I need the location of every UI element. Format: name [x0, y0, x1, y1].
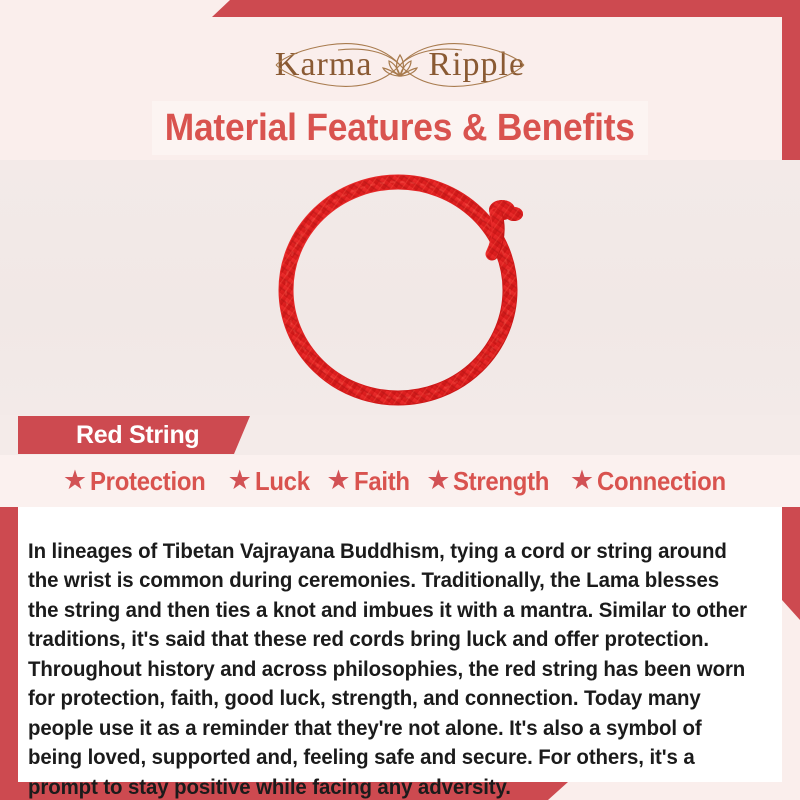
benefit-item: ★Faith — [326, 466, 414, 497]
product-name-label: Red String — [18, 421, 199, 450]
benefit-label: Strength — [453, 466, 549, 497]
benefit-label: Protection — [90, 466, 206, 497]
description-card: In lineages of Tibetan Vajrayana Buddhis… — [18, 507, 782, 782]
title-band: Material Features & Benefits — [152, 101, 648, 155]
benefit-label: Luck — [255, 466, 310, 497]
star-icon: ★ — [326, 467, 350, 494]
red-braided-bracelet-image — [250, 162, 550, 415]
benefits-strip: ★Protection★Luck★Faith★Strength★Connecti… — [0, 455, 800, 507]
benefits-list: ★Protection★Luck★Faith★Strength★Connecti… — [58, 466, 742, 497]
lotus-icon — [380, 45, 420, 85]
star-icon: ★ — [426, 467, 450, 494]
brand-word-left: Karma — [275, 48, 373, 82]
page-title: Material Features & Benefits — [165, 107, 635, 150]
star-icon: ★ — [63, 467, 87, 494]
infographic-page: Karma Ripple Material Features & Benefit… — [0, 0, 800, 800]
benefit-item: ★Connection — [570, 466, 737, 497]
benefit-label: Faith — [354, 466, 410, 497]
product-name-banner: Red String — [18, 416, 250, 454]
star-icon: ★ — [228, 467, 252, 494]
star-icon: ★ — [570, 467, 594, 494]
frame-top-bar — [212, 0, 800, 17]
brand-logo: Karma Ripple — [0, 34, 800, 96]
benefit-label: Connection — [597, 466, 726, 497]
brand-word-right: Ripple — [428, 48, 525, 82]
benefit-item: ★Luck — [228, 466, 315, 497]
product-photo-stage — [0, 160, 800, 415]
benefit-item: ★Protection — [63, 466, 216, 497]
benefit-item: ★Strength — [426, 466, 558, 497]
description-text: In lineages of Tibetan Vajrayana Buddhis… — [28, 537, 750, 800]
